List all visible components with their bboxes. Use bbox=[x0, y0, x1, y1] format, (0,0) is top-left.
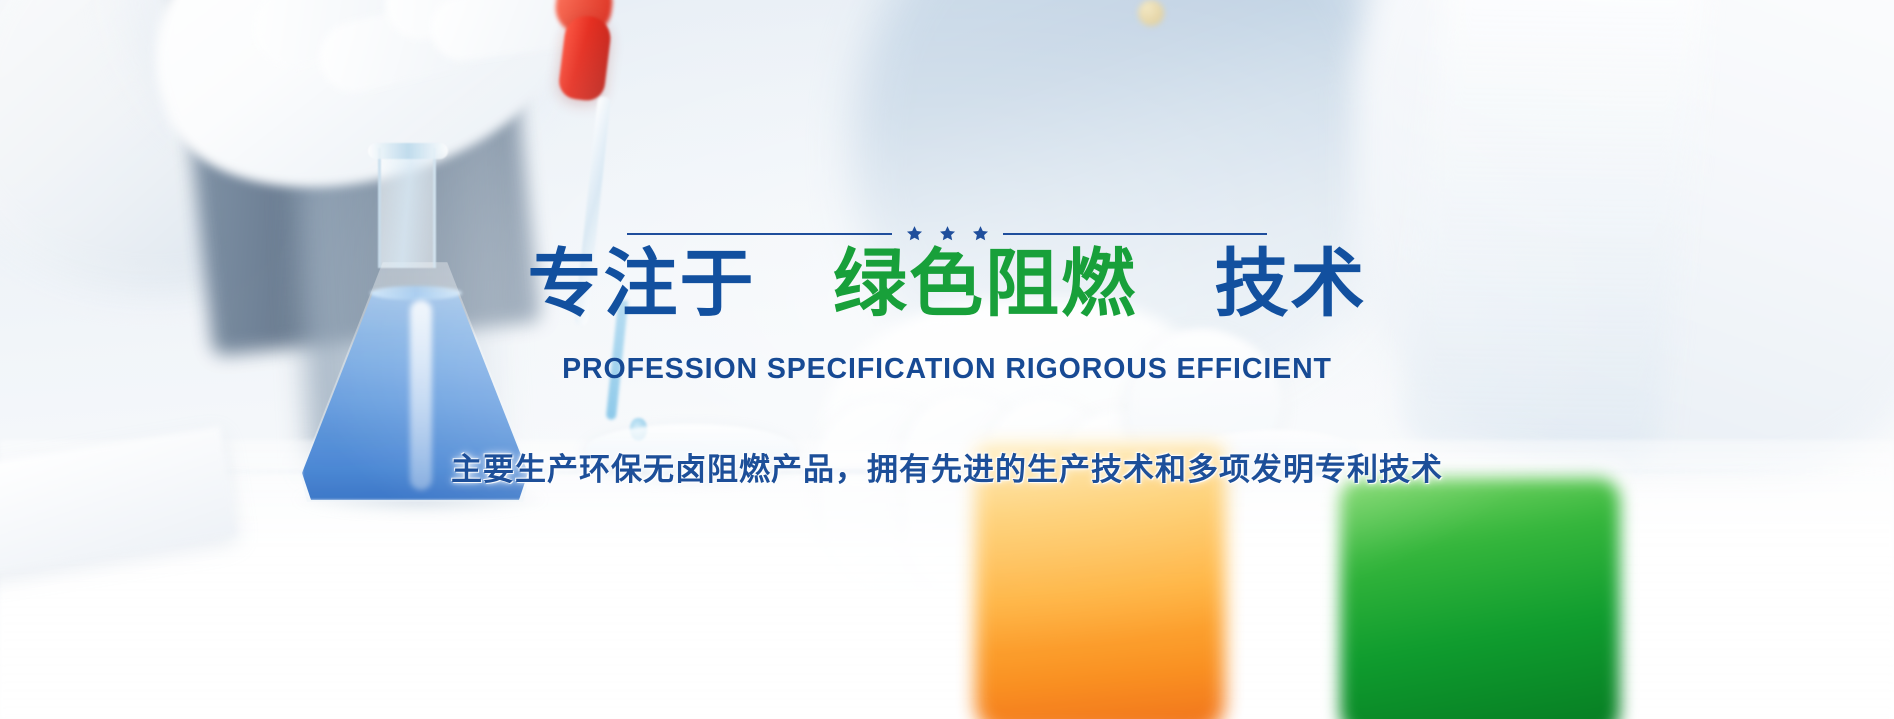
decorative-divider bbox=[627, 225, 1267, 242]
headline-part-1: 专注于 bbox=[527, 241, 755, 327]
star-icon bbox=[906, 225, 923, 242]
hero-banner: 专注于 绿色阻燃 技术 PROFESSION SPECIFICATION RIG… bbox=[0, 0, 1894, 719]
horizontal-rule-left bbox=[627, 233, 892, 235]
headline: 专注于 绿色阻燃 技术 bbox=[527, 247, 1366, 321]
banner-content: 专注于 绿色阻燃 技术 PROFESSION SPECIFICATION RIG… bbox=[0, 0, 1894, 719]
star-group bbox=[906, 225, 989, 242]
horizontal-rule-right bbox=[1003, 233, 1268, 235]
headline-part-2: 绿色阻燃 bbox=[833, 241, 1137, 327]
tagline: 主要生产环保无卤阻燃产品，拥有先进的生产技术和多项发明专利技术 bbox=[451, 444, 1443, 489]
star-icon bbox=[972, 225, 989, 242]
star-icon bbox=[939, 225, 956, 242]
subtitle-english: PROFESSION SPECIFICATION RIGOROUS EFFICI… bbox=[562, 353, 1332, 386]
headline-part-3: 技术 bbox=[1215, 241, 1367, 327]
